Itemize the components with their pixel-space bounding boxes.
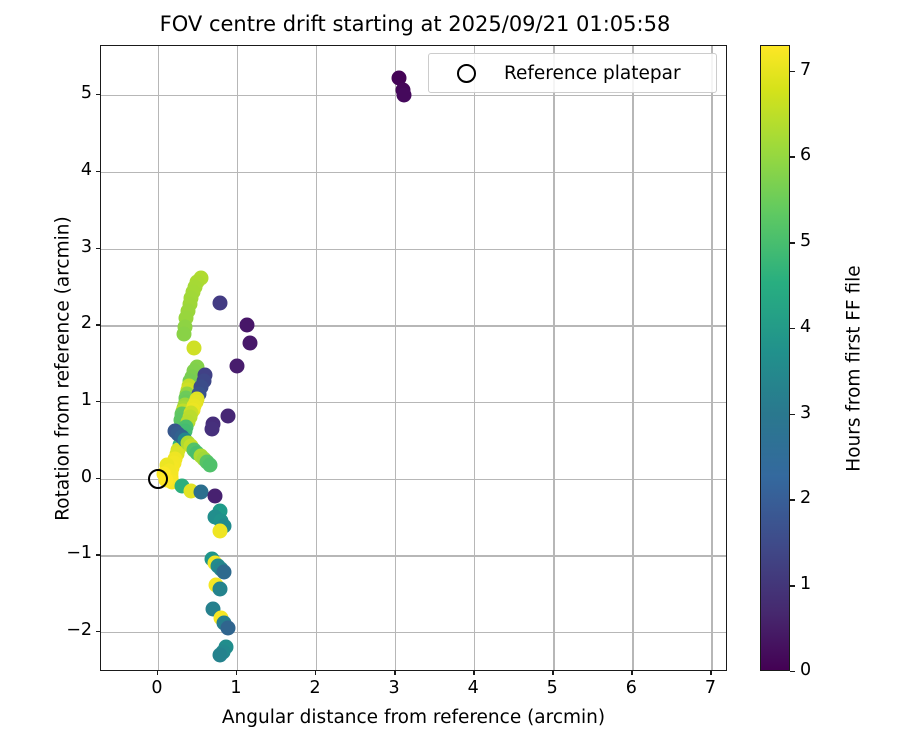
colorbar-tick-label: 0 (800, 660, 811, 680)
legend-circle-icon (457, 64, 476, 83)
x-axis-tick-label: 2 (295, 678, 335, 698)
y-axis-tick (96, 94, 100, 95)
page-title: FOV centre drift starting at 2025/09/21 … (0, 12, 830, 36)
colorbar-tick (790, 585, 795, 586)
colorbar-tick-label: 3 (800, 403, 811, 423)
colorbar-tick (790, 499, 795, 500)
y-axis-tick (96, 171, 100, 172)
x-axis-tick-label: 6 (611, 678, 651, 698)
colorbar-gradient (760, 45, 790, 671)
colorbar-tick-label: 6 (800, 145, 811, 165)
colorbar-tick (790, 156, 795, 157)
colorbar-label: Hours from first FF file (844, 56, 865, 682)
x-axis-tick-label: 1 (216, 678, 256, 698)
legend-item-label: Reference platepar (504, 63, 681, 84)
y-axis-tick (96, 324, 100, 325)
y-axis-tick (96, 478, 100, 479)
colorbar: 76543210 (760, 45, 790, 671)
colorbar-tick-label: 5 (800, 231, 811, 251)
x-axis-tick (552, 671, 553, 675)
x-axis-tick (315, 671, 316, 675)
y-axis-tick (96, 401, 100, 402)
x-axis-tick (236, 671, 237, 675)
colorbar-tick (790, 242, 795, 243)
x-axis-label: Angular distance from reference (arcmin) (100, 707, 727, 728)
colorbar-tick (790, 71, 795, 72)
x-axis-tick (631, 671, 632, 675)
colorbar-tick-label: 4 (800, 317, 811, 337)
colorbar-tick (790, 328, 795, 329)
x-axis-tick (710, 671, 711, 675)
chart-figure: FOV centre drift starting at 2025/09/21 … (0, 0, 900, 750)
reference-platepar-marker (148, 469, 168, 489)
x-axis-tick-label: 3 (374, 678, 414, 698)
y-axis-label: Rotation from reference (arcmin) (53, 56, 74, 682)
colorbar-tick-label: 2 (800, 488, 811, 508)
x-axis-tick (157, 671, 158, 675)
colorbar-tick (790, 671, 795, 672)
x-axis-tick-label: 7 (690, 678, 730, 698)
overlay-layer (101, 46, 726, 670)
colorbar-tick-label: 7 (800, 60, 811, 80)
x-axis-tick-label: 5 (532, 678, 572, 698)
colorbar-tick (790, 414, 795, 415)
x-axis-tick-label: 4 (453, 678, 493, 698)
x-axis-tick (473, 671, 474, 675)
x-axis-tick (394, 671, 395, 675)
colorbar-tick-label: 1 (800, 574, 811, 594)
y-axis-tick (96, 554, 100, 555)
legend: Reference platepar (428, 53, 717, 93)
x-axis-tick-label: 0 (137, 678, 177, 698)
y-axis-tick (96, 248, 100, 249)
y-axis-tick (96, 631, 100, 632)
plot-area (100, 45, 727, 671)
